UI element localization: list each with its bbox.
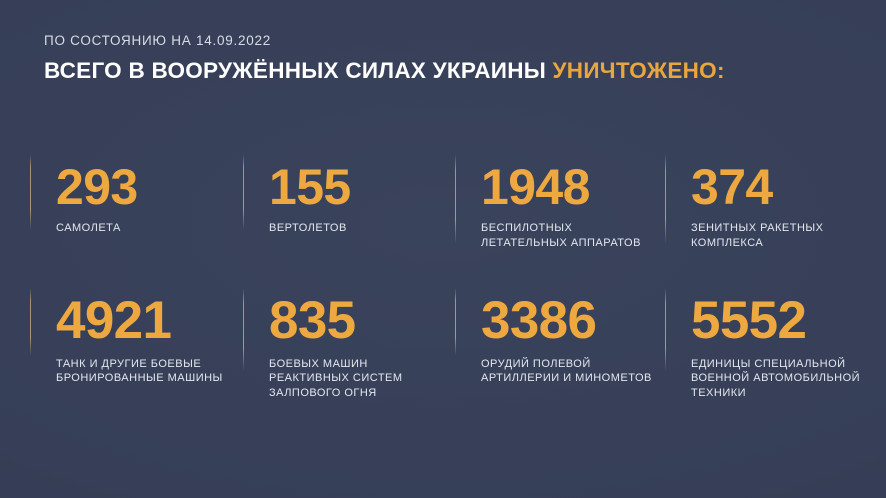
stat-card-aircraft: 293 САМОЛЕТА xyxy=(30,152,243,236)
stat-card-tanks: 4921 ТАНК И ДРУГИЕ БОЕВЫЕ БРОНИРОВАННЫЕ … xyxy=(30,284,243,386)
stat-label: ЗЕНИТНЫХ РАКЕТНЫХ КОМПЛЕКСА xyxy=(691,221,871,250)
stat-label: ТАНК И ДРУГИЕ БОЕВЫЕ БРОНИРОВАННЫЕ МАШИН… xyxy=(56,357,241,386)
stat-label: БЕСПИЛОТНЫХ ЛЕТАТЕЛЬНЫХ АППАРАТОВ xyxy=(481,221,661,250)
stat-value: 374 xyxy=(691,164,886,211)
page-title: ВСЕГО В ВООРУЖЁННЫХ СИЛАХ УКРАИНЫ УНИЧТО… xyxy=(44,58,856,84)
statistics-row-2: 4921 ТАНК И ДРУГИЕ БОЕВЫЕ БРОНИРОВАННЫЕ … xyxy=(0,284,886,434)
stat-value: 835 xyxy=(269,296,455,346)
stat-card-helicopters: 155 ВЕРТОЛЕТОВ xyxy=(243,152,455,236)
stat-card-air-defence: 374 ЗЕНИТНЫХ РАКЕТНЫХ КОМПЛЕКСА xyxy=(665,152,886,250)
stat-label: БОЕВЫХ МАШИН РЕАКТИВНЫХ СИСТЕМ ЗАЛПОВОГО… xyxy=(269,357,454,401)
stat-card-military-vehicles: 5552 ЕДИНИЦЫ СПЕЦИАЛЬНОЙ ВОЕННОЙ АВТОМОБ… xyxy=(665,284,886,401)
stat-card-uav: 1948 БЕСПИЛОТНЫХ ЛЕТАТЕЛЬНЫХ АППАРАТОВ xyxy=(455,152,665,250)
infographic-poster: ПО СОСТОЯНИЮ НА 14.09.2022 ВСЕГО В ВООРУ… xyxy=(0,0,886,498)
stat-value: 155 xyxy=(269,164,455,211)
stat-card-artillery: 3386 ОРУДИЙ ПОЛЕВОЙ АРТИЛЛЕРИИ И МИНОМЕТ… xyxy=(455,284,665,386)
stat-label: ВЕРТОЛЕТОВ xyxy=(269,221,449,236)
stat-value: 5552 xyxy=(691,296,886,346)
stat-label: САМОЛЕТА xyxy=(56,221,236,236)
statistics-grid: 293 САМОЛЕТА 155 ВЕРТОЛЕТОВ 1948 БЕСПИЛО… xyxy=(0,152,886,434)
stat-card-mlrs: 835 БОЕВЫХ МАШИН РЕАКТИВНЫХ СИСТЕМ ЗАЛПО… xyxy=(243,284,455,401)
statistics-row-1: 293 САМОЛЕТА 155 ВЕРТОЛЕТОВ 1948 БЕСПИЛО… xyxy=(0,152,886,284)
stat-label: ЕДИНИЦЫ СПЕЦИАЛЬНОЙ ВОЕННОЙ АВТОМОБИЛЬНО… xyxy=(691,357,876,401)
page-title-main: ВСЕГО В ВООРУЖЁННЫХ СИЛАХ УКРАИНЫ xyxy=(44,58,553,83)
report-date-line: ПО СОСТОЯНИЮ НА 14.09.2022 xyxy=(44,33,856,49)
stat-value: 3386 xyxy=(481,296,665,346)
stat-value: 4921 xyxy=(56,296,243,346)
stat-value: 293 xyxy=(56,164,243,211)
stat-value: 1948 xyxy=(481,164,665,211)
page-title-accent: УНИЧТОЖЕНО: xyxy=(553,58,725,83)
stat-label: ОРУДИЙ ПОЛЕВОЙ АРТИЛЛЕРИИ И МИНОМЕТОВ xyxy=(481,357,665,386)
poster-header: ПО СОСТОЯНИЮ НА 14.09.2022 ВСЕГО В ВООРУ… xyxy=(44,33,856,84)
